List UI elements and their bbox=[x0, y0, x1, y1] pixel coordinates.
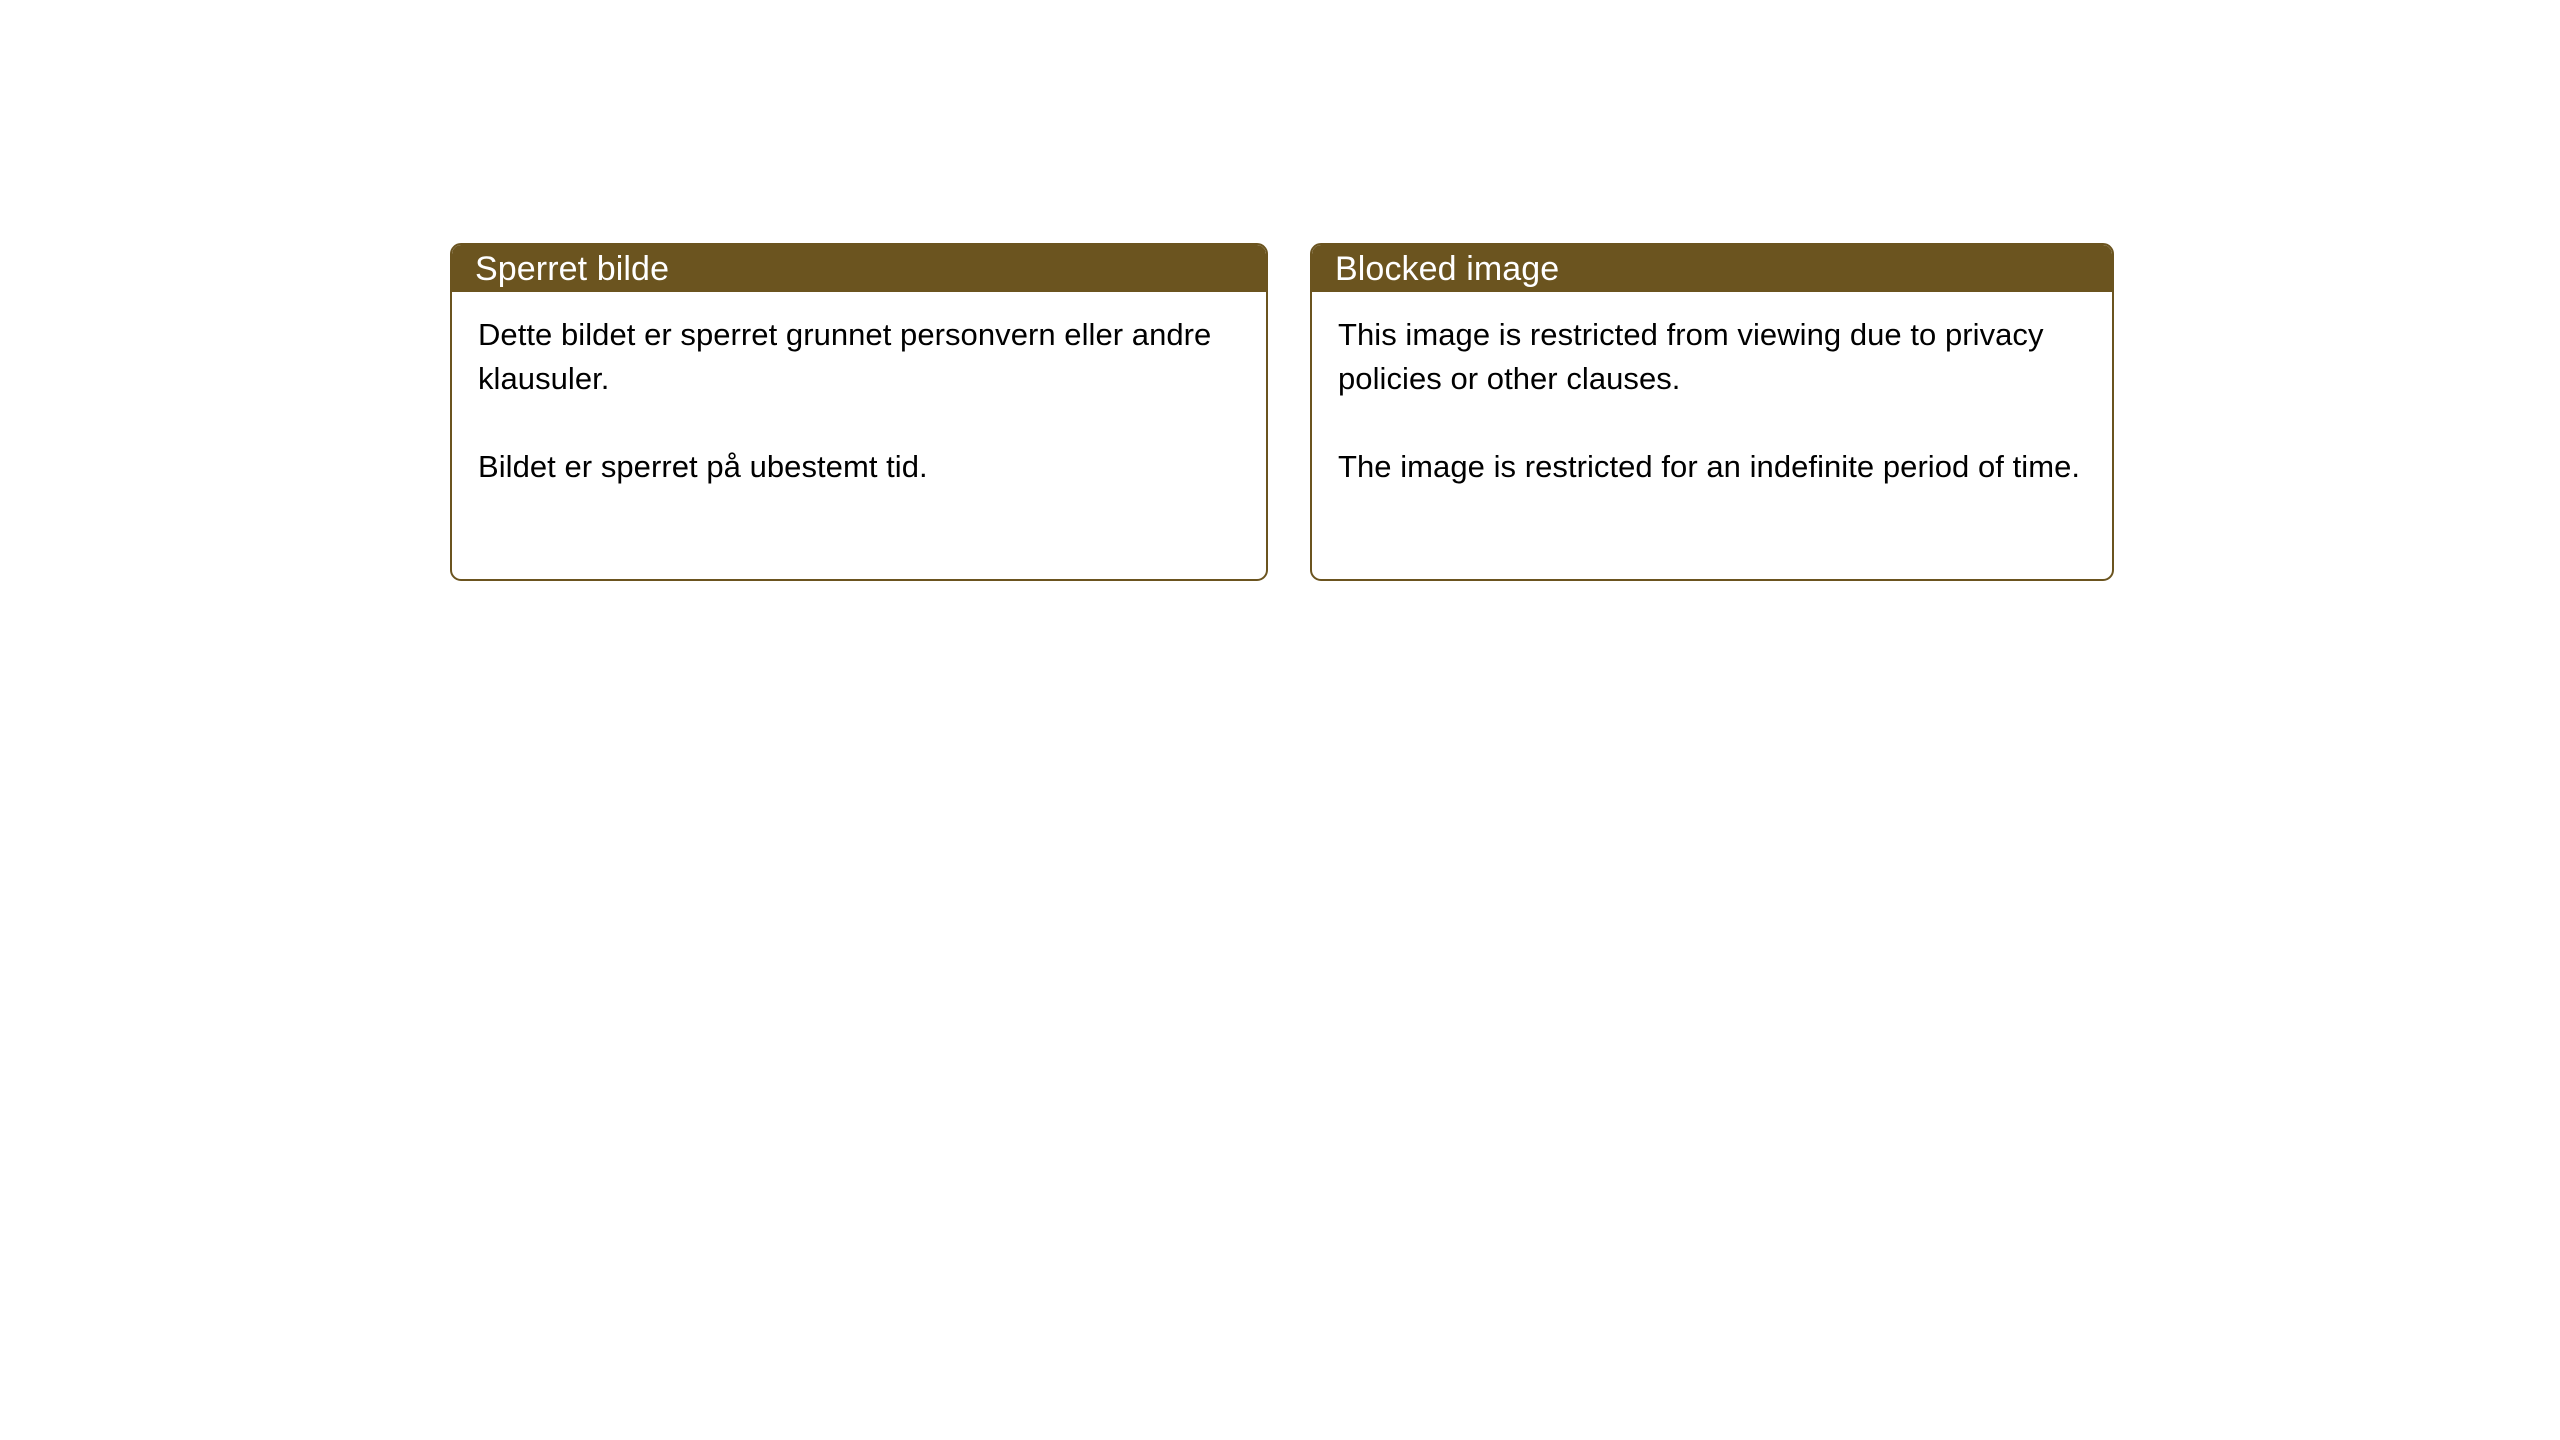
card-paragraph-duration-norwegian: Bildet er sperret på ubestemt tid. bbox=[478, 445, 1242, 489]
blocked-image-notice-card-english: Blocked image This image is restricted f… bbox=[1310, 243, 2114, 581]
blocked-image-notice-card-norwegian: Sperret bilde Dette bildet er sperret gr… bbox=[450, 243, 1268, 581]
card-body-english: This image is restricted from viewing du… bbox=[1312, 292, 2112, 489]
card-header-english: Blocked image bbox=[1312, 245, 2112, 292]
card-title-english: Blocked image bbox=[1335, 252, 1559, 286]
card-paragraph-reason-norwegian: Dette bildet er sperret grunnet personve… bbox=[478, 313, 1242, 401]
card-paragraph-duration-english: The image is restricted for an indefinit… bbox=[1338, 445, 2088, 489]
card-body-norwegian: Dette bildet er sperret grunnet personve… bbox=[452, 292, 1266, 489]
card-header-norwegian: Sperret bilde bbox=[452, 245, 1266, 292]
card-title-norwegian: Sperret bilde bbox=[475, 252, 669, 286]
page-canvas: Sperret bilde Dette bildet er sperret gr… bbox=[0, 0, 2560, 1440]
card-paragraph-reason-english: This image is restricted from viewing du… bbox=[1338, 313, 2088, 401]
